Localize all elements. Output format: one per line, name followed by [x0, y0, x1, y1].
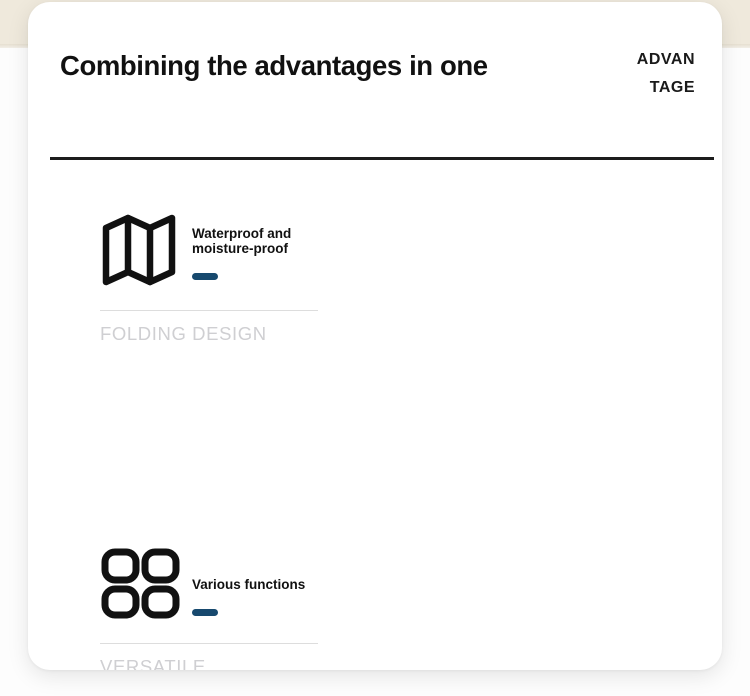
- feature-divider: [100, 310, 318, 311]
- advantages-card: Combining the advantages in one ADVAN TA…: [28, 2, 722, 670]
- eyebrow-line-2: TAGE: [575, 74, 695, 102]
- feature-divider: [100, 643, 318, 644]
- features-row-1: Waterproof and moisture-proof FOLDING DE…: [28, 198, 722, 358]
- card-header: Combining the advantages in one ADVAN TA…: [28, 2, 722, 162]
- feature-caption: VERSATILE: [100, 656, 348, 670]
- features-grid: Waterproof and moisture-proof FOLDING DE…: [28, 198, 722, 670]
- four-squares-grid-icon: [100, 531, 192, 631]
- feature-label: Waterproof and moisture-proof: [192, 226, 348, 256]
- page-title: Combining the advantages in one: [60, 50, 488, 82]
- feature-caption: FOLDING DESIGN: [100, 323, 348, 345]
- header-divider: [50, 157, 714, 160]
- folding-map-icon: [100, 198, 192, 298]
- eyebrow-line-1: ADVAN: [575, 46, 695, 74]
- feature-card-good-material: Selected materials GOOD MATERIAL: [375, 198, 722, 358]
- features-row-2: Various functions VERSATILE: [28, 531, 722, 670]
- feature-label: Various functions: [192, 577, 348, 592]
- feature-card-folding-design: Waterproof and moisture-proof FOLDING DE…: [28, 198, 375, 358]
- eyebrow-advantage: ADVAN TAGE: [575, 46, 695, 102]
- accent-dash: [192, 609, 218, 616]
- feature-card-beauty-bar: Responsible appearance BEAUTY BAR: [375, 531, 722, 670]
- accent-dash: [192, 273, 218, 280]
- feature-card-versatile: Various functions VERSATILE: [28, 531, 375, 670]
